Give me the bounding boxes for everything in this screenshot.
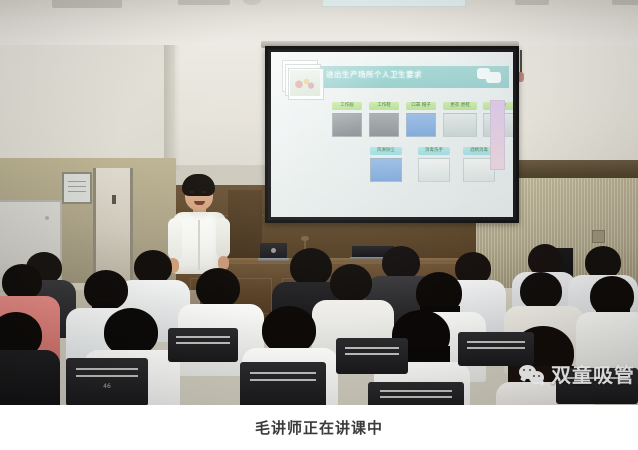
slide-cell: 消毒洗手 xyxy=(418,147,450,182)
lecture-photo-card: 进出生产场所个人卫生要求 工作服 工作鞋 xyxy=(0,0,638,450)
ceiling-vent xyxy=(515,0,549,5)
ceiling xyxy=(0,0,638,47)
framed-notice xyxy=(62,172,92,204)
ceiling-vent xyxy=(178,0,230,5)
slide-cell: 口罩 帽子 xyxy=(406,102,436,137)
ceiling-light xyxy=(243,0,261,5)
slide-cell: 工作服 xyxy=(332,102,362,137)
presenter-hair xyxy=(182,174,215,196)
ceiling-vent xyxy=(612,0,638,5)
screen-cable xyxy=(520,50,522,74)
head xyxy=(104,308,158,356)
slide-thumb xyxy=(406,113,436,137)
chair[interactable] xyxy=(168,328,238,362)
photo-stack-icon xyxy=(282,60,324,100)
wechat-icon xyxy=(519,364,546,386)
door-handle[interactable] xyxy=(112,195,116,204)
head xyxy=(520,272,562,310)
head xyxy=(196,268,240,308)
projected-slide: 进出生产场所个人卫生要求 工作服 工作鞋 xyxy=(271,52,513,217)
presenter-eye-left xyxy=(190,191,194,193)
slide-thumb xyxy=(443,113,477,137)
slide-side-bar xyxy=(490,100,505,170)
head xyxy=(290,248,332,286)
photo-image: 进出生产场所个人卫生要求 工作服 工作鞋 xyxy=(0,0,638,405)
ceiling-panel xyxy=(322,0,466,7)
caption-text: 毛讲师正在讲课中 xyxy=(255,417,383,438)
speech-bubbles-icon xyxy=(477,66,503,86)
slide-cell: 工作鞋 xyxy=(369,102,399,137)
whiteboard-magnet xyxy=(45,216,49,220)
chair[interactable] xyxy=(240,362,326,405)
chair[interactable]: 46 xyxy=(66,358,148,405)
head xyxy=(134,250,172,284)
left-wall-upper xyxy=(0,45,175,165)
slide-thumb xyxy=(418,158,450,182)
head xyxy=(262,306,316,354)
slide-cell: 更衣 更鞋 xyxy=(443,102,477,137)
ceiling-vent xyxy=(52,0,122,8)
microphone xyxy=(301,236,309,241)
projection-screen: 进出生产场所个人卫生要求 工作服 工作鞋 xyxy=(265,46,519,223)
head xyxy=(2,264,42,300)
slide-thumb xyxy=(369,113,399,137)
slide-thumb xyxy=(370,158,402,182)
wall-corner-shadow xyxy=(164,45,180,170)
slide-cell: 风淋除尘 xyxy=(370,147,402,182)
slide-thumb xyxy=(332,113,362,137)
presenter-eye-right xyxy=(202,191,206,193)
caption-bar: 毛讲师正在讲课中 xyxy=(0,405,638,450)
chair[interactable] xyxy=(368,382,464,405)
watermark-text: 双童吸管 xyxy=(551,365,635,385)
power-outlet xyxy=(592,230,605,243)
chair[interactable] xyxy=(336,338,408,374)
wechat-watermark: 双童吸管 xyxy=(519,358,635,392)
head xyxy=(382,246,420,280)
torso xyxy=(0,350,60,405)
head xyxy=(330,264,372,302)
slide-title: 进出生产场所个人卫生要求 xyxy=(326,69,422,80)
